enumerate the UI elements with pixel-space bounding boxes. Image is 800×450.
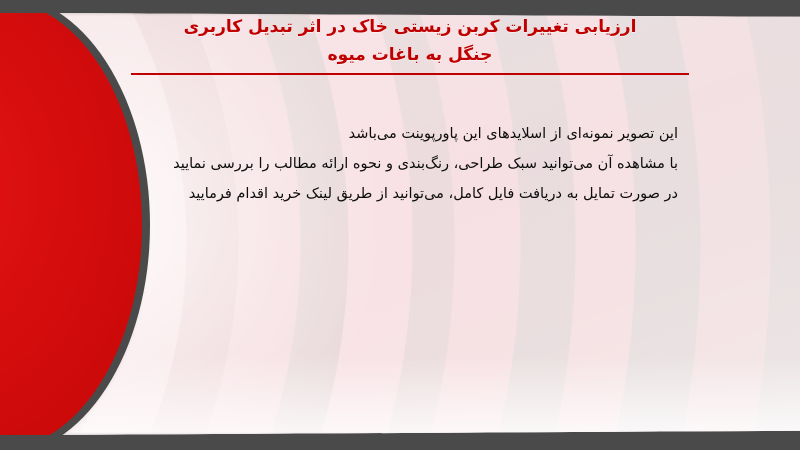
slide-frame-top-band <box>0 0 800 13</box>
body-line-1: این تصویر نمونه‌ای از اسلایدهای این پاور… <box>120 120 678 150</box>
body-line-3: در صورت تمایل به دریافت فایل کامل، می‌تو… <box>120 180 678 210</box>
presentation-slide: ارزیابی تغییرات کربن زیستی خاک در اثر تب… <box>0 0 800 450</box>
slide-body-text: این تصویر نمونه‌ای از اسلایدهای این پاور… <box>120 120 678 210</box>
slide-title-line-2: جنگل به باغات میوه <box>120 42 700 70</box>
slide-title: ارزیابی تغییرات کربن زیستی خاک در اثر تب… <box>120 14 700 75</box>
slide-title-underline <box>131 73 689 75</box>
body-line-2: با مشاهده آن می‌توانید سبک طراحی، رنگ‌بن… <box>120 150 678 180</box>
slide-title-line-1: ارزیابی تغییرات کربن زیستی خاک در اثر تب… <box>120 14 700 42</box>
slide-frame-bottom-band <box>0 435 800 450</box>
